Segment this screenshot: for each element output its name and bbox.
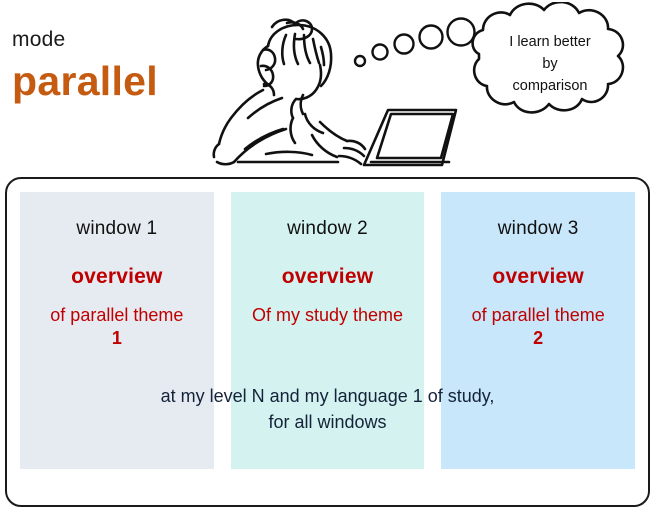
window-2-overview-sub-text: Of my study theme bbox=[252, 305, 403, 325]
window-2-overview-label: overview bbox=[231, 265, 425, 289]
window-1-title: window 1 bbox=[20, 218, 214, 240]
window-1-overview-sub-text: of parallel theme bbox=[50, 305, 183, 325]
window-1-overview-sub: of parallel theme 1 bbox=[20, 304, 214, 349]
thought-line-3: comparison bbox=[470, 76, 630, 98]
header-block: mode parallel bbox=[12, 28, 222, 105]
window-column-2[interactable]: window 2 overview Of my study theme bbox=[231, 192, 425, 469]
window-3-overview-sub-text: of parallel theme bbox=[472, 305, 605, 325]
window-column-1[interactable]: window 1 overview of parallel theme 1 bbox=[20, 192, 214, 469]
mode-label: mode bbox=[12, 28, 222, 51]
window-2-title: window 2 bbox=[231, 218, 425, 240]
mode-value: parallel bbox=[12, 58, 222, 105]
window-column-3[interactable]: window 3 overview of parallel theme 2 bbox=[441, 192, 635, 469]
thought-bubble-text: I learn better by comparison bbox=[470, 32, 630, 97]
window-3-overview-number: 2 bbox=[445, 327, 631, 350]
window-3-title: window 3 bbox=[441, 218, 635, 240]
window-3-overview-label: overview bbox=[441, 265, 635, 289]
thought-line-1: I learn better bbox=[470, 32, 630, 54]
window-1-overview-number: 1 bbox=[24, 327, 210, 350]
window-columns: window 1 overview of parallel theme 1 wi… bbox=[20, 192, 635, 469]
window-3-overview-sub: of parallel theme 2 bbox=[441, 304, 635, 349]
window-2-overview-sub: Of my study theme bbox=[231, 304, 425, 327]
thought-line-2: by bbox=[470, 54, 630, 76]
window-1-overview-label: overview bbox=[20, 265, 214, 289]
